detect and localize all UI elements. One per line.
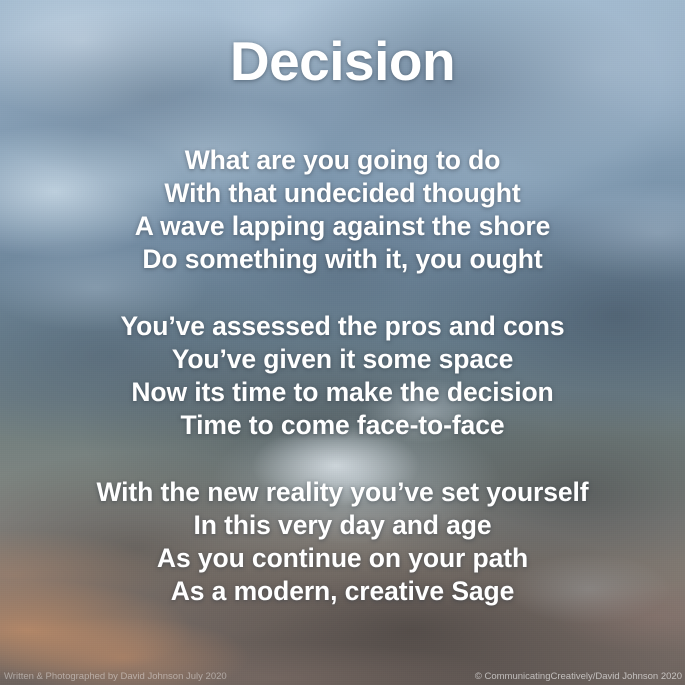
poem-line: You’ve assessed the pros and cons (0, 310, 685, 343)
poem-line: With the new reality you’ve set yourself (0, 476, 685, 509)
poem-line: As you continue on your path (0, 542, 685, 575)
poem-line: With that undecided thought (0, 177, 685, 210)
copyright-credit: © CommunicatingCreatively/David Johnson … (475, 671, 682, 683)
poem-poster: Decision What are you going to do With t… (0, 0, 685, 685)
poem-stanza-2: You’ve assessed the pros and cons You’ve… (0, 310, 685, 442)
poem-line: A wave lapping against the shore (0, 210, 685, 243)
poem-line: Time to come face-to-face (0, 409, 685, 442)
poem-line: You’ve given it some space (0, 343, 685, 376)
poem-line: Do something with it, you ought (0, 243, 685, 276)
poem-stanza-3: With the new reality you’ve set yourself… (0, 476, 685, 608)
poem-line: Now its time to make the decision (0, 376, 685, 409)
poem-content: Decision What are you going to do With t… (0, 0, 685, 685)
poem-line: As a modern, creative Sage (0, 575, 685, 608)
poem-line: What are you going to do (0, 144, 685, 177)
author-credit: Written & Photographed by David Johnson … (4, 671, 227, 683)
poem-title: Decision (0, 33, 685, 91)
poem-line: In this very day and age (0, 509, 685, 542)
poem-stanza-1: What are you going to do With that undec… (0, 144, 685, 276)
